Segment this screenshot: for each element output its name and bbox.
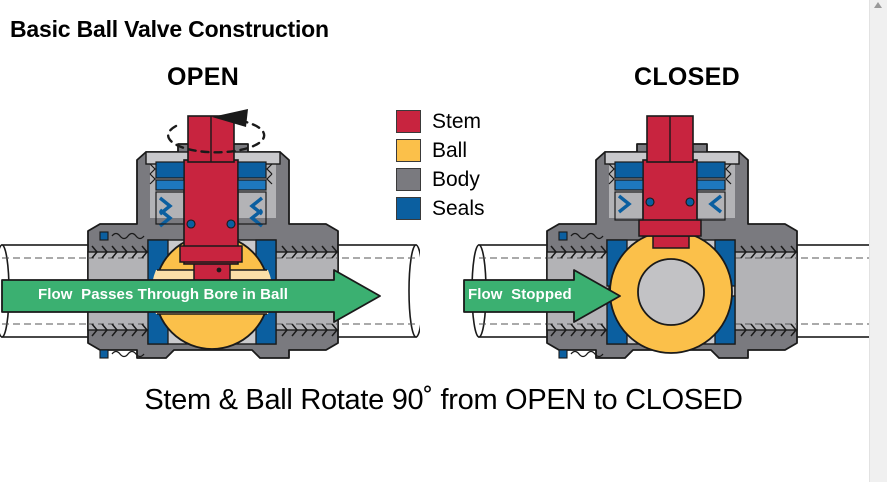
scroll-up-arrow-icon[interactable] xyxy=(874,2,882,8)
valve-diagram-closed xyxy=(455,100,887,370)
valve-stem-closed xyxy=(639,116,701,248)
caption: Stem & Ball Rotate 90˚ from OPEN to CLOS… xyxy=(0,384,887,417)
legend-swatch-ball xyxy=(396,139,421,162)
legend-item-stem: Stem xyxy=(396,107,516,136)
legend-label-body: Body xyxy=(432,169,480,190)
legend-label-ball: Ball xyxy=(432,140,467,161)
valve-diagram-open xyxy=(0,100,420,370)
legend-item-body: Body xyxy=(396,165,516,194)
legend-item-ball: Ball xyxy=(396,136,516,165)
diagram-canvas: Basic Ball Valve Construction OPEN CLOSE… xyxy=(0,0,887,482)
valve-stem-open xyxy=(180,116,242,286)
legend-item-seals: Seals xyxy=(396,194,516,223)
legend-label-seals: Seals xyxy=(432,198,485,219)
scrollbar[interactable] xyxy=(869,0,887,482)
legend: Stem Ball Body Seals xyxy=(396,107,516,223)
page-title: Basic Ball Valve Construction xyxy=(10,16,329,43)
flow-label-open: Flow Passes Through Bore in Ball xyxy=(38,286,288,303)
heading-open: OPEN xyxy=(167,63,239,92)
legend-swatch-stem xyxy=(396,110,421,133)
legend-label-stem: Stem xyxy=(432,111,481,132)
legend-swatch-body xyxy=(396,168,421,191)
flow-label-closed: Flow Stopped xyxy=(468,286,572,303)
heading-closed: CLOSED xyxy=(634,63,740,92)
legend-swatch-seals xyxy=(396,197,421,220)
valve-ball-closed xyxy=(610,231,732,353)
